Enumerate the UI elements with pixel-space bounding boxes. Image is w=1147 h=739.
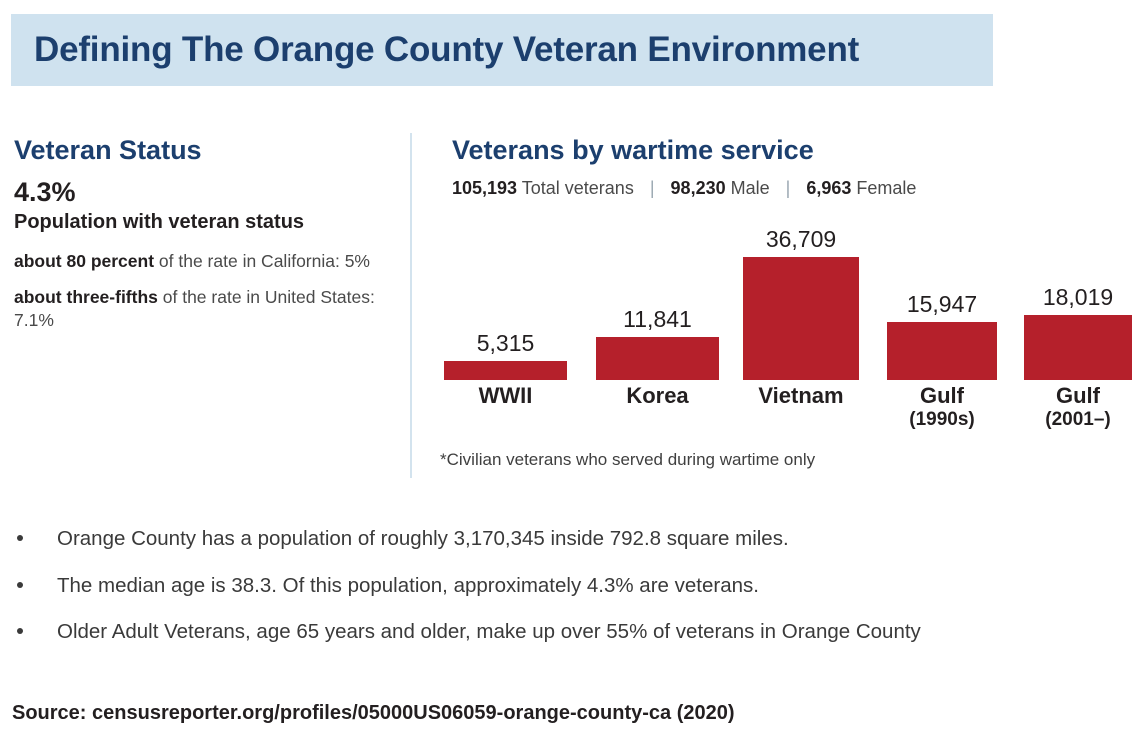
bar-category-name: Gulf [920,383,964,408]
female-veterans-label: Female [851,178,916,198]
bar-value-label: 11,841 [623,308,692,331]
comparison-row-california: about 80 percent of the rate in Californ… [14,250,399,273]
veteran-status-caption: Population with veteran status [14,211,399,234]
veteran-status-heading: Veteran Status [14,136,399,164]
chart-title: Veterans by wartime service [452,136,1142,164]
bar-category-name: WWII [479,383,533,408]
bar-chart-labels: WWIIKoreaVietnamGulf(1990s)Gulf(2001–) [440,384,1140,446]
list-item: Orange County has a population of roughl… [12,524,1112,554]
bar-category-sublabel: (1990s) [887,409,997,430]
bullet-icon [17,582,23,588]
bar-rect [743,257,859,380]
chart-panel: Veterans by wartime service 105,193 Tota… [452,136,1142,203]
bar-category-name: Gulf [1056,383,1100,408]
comparison-rest-california: of the rate in California: 5% [154,251,370,271]
comparison-lead-united-states: about three-fifths [14,287,158,307]
page-title: Defining The Orange County Veteran Envir… [11,30,859,70]
bullet-icon [17,628,23,634]
bar-rect [887,322,997,380]
bullet-list: Orange County has a population of roughl… [12,524,1112,664]
panel-divider [410,133,412,478]
source-line: Source: censusreporter.org/profiles/0500… [12,702,735,725]
summary-separator-2: | [775,178,802,198]
bar-column: 15,947 [887,228,997,380]
summary-separator-1: | [639,178,666,198]
bar-value-label: 36,709 [766,228,836,251]
bar-category-label: Korea [596,384,719,409]
total-veterans-label: Total veterans [517,178,634,198]
veteran-status-value: 4.3% [14,178,399,206]
total-veterans-value: 105,193 [452,178,517,198]
bar-value-label: 18,019 [1043,286,1113,309]
list-item: The median age is 38.3. Of this populati… [12,571,1112,601]
bar-category-name: Korea [626,383,688,408]
bar-column: 11,841 [596,228,719,380]
comparison-row-united-states: about three-fifths of the rate in United… [14,286,399,332]
bar-category-sublabel: (2001–) [1024,409,1132,430]
female-veterans-value: 6,963 [806,178,851,198]
bar-rect [1024,315,1132,380]
bar-chart: 5,31511,84136,70915,94718,019 [440,228,1140,380]
veteran-status-panel: Veteran Status 4.3% Population with vete… [14,136,399,345]
male-veterans-label: Male [726,178,770,198]
bar-category-label: Gulf(2001–) [1024,384,1132,430]
chart-summary: 105,193 Total veterans | 98,230 Male | 6… [452,178,1142,199]
list-item-text: Older Adult Veterans, age 65 years and o… [57,620,921,643]
list-item: Older Adult Veterans, age 65 years and o… [12,617,1112,647]
bar-column: 5,315 [444,228,567,380]
bar-column: 18,019 [1024,228,1132,380]
bullet-icon [17,535,23,541]
comparison-lead-california: about 80 percent [14,251,154,271]
bar-category-label: WWII [444,384,567,409]
male-veterans-value: 98,230 [671,178,726,198]
header-band: Defining The Orange County Veteran Envir… [11,14,993,86]
chart-footnote: *Civilian veterans who served during war… [440,450,815,470]
list-item-text: The median age is 38.3. Of this populati… [57,574,759,597]
bar-column: 36,709 [743,228,859,380]
list-item-text: Orange County has a population of roughl… [57,527,789,550]
bar-value-label: 5,315 [477,332,535,355]
bar-category-name: Vietnam [758,383,843,408]
bar-rect [596,337,719,380]
bar-rect [444,361,567,380]
bar-value-label: 15,947 [907,293,977,316]
bar-category-label: Gulf(1990s) [887,384,997,430]
bar-category-label: Vietnam [743,384,859,409]
